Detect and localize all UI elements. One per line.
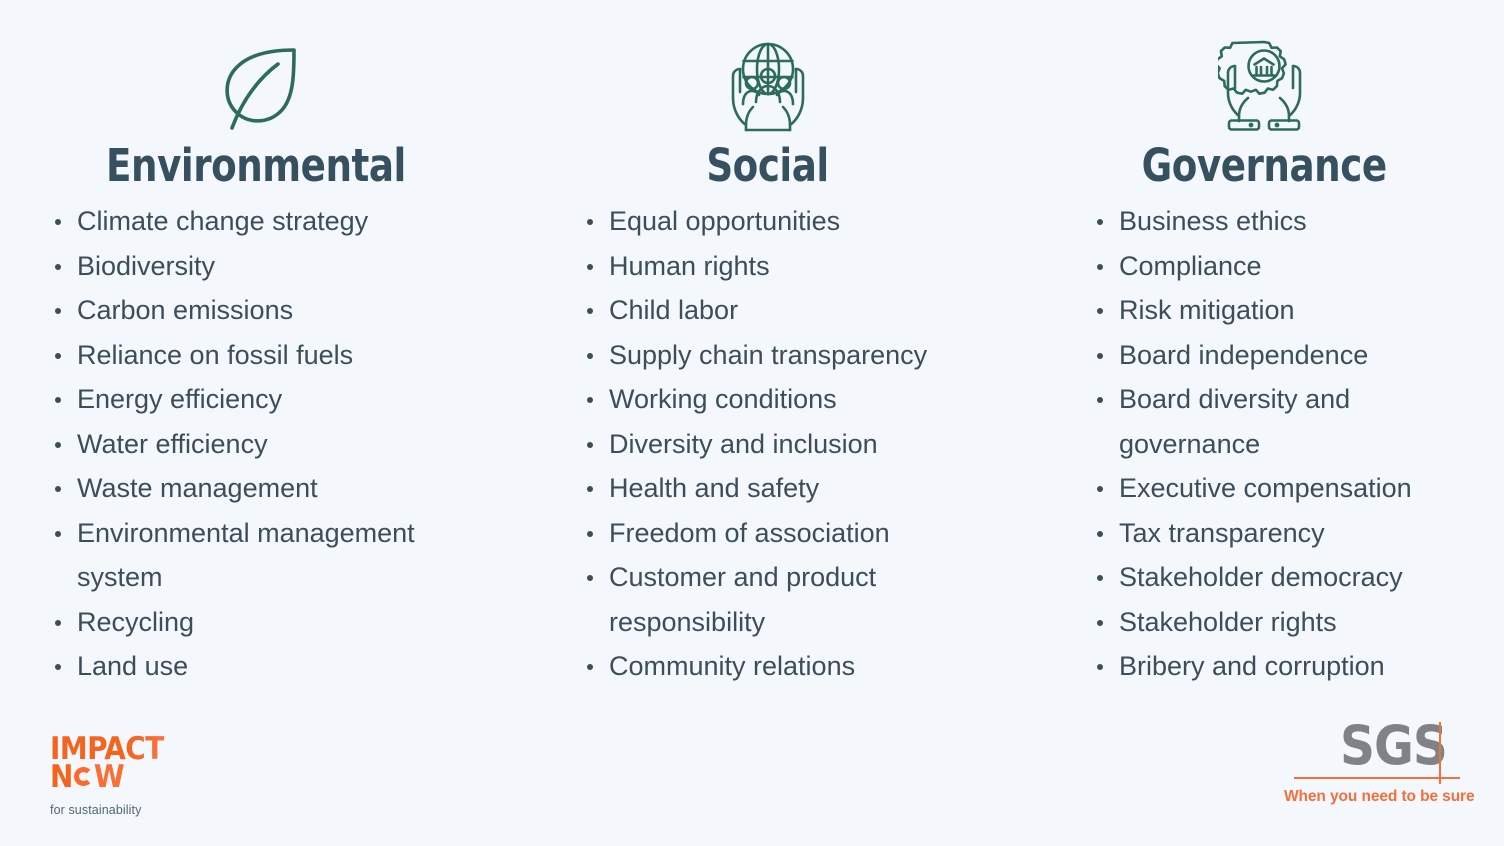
list-item: Reliance on fossil fuels [52,333,492,378]
sgs-mark: SGS [1280,722,1470,782]
list-item: Customer and product responsibility [584,555,1004,644]
column-governance: Governance Business ethics Compliance Ri… [1024,0,1504,720]
sgs-crosshair-horizontal-icon [1294,777,1460,779]
list-item: Environmental management system [52,511,492,600]
hands-holding-gear-bank-icon [1218,22,1310,134]
list-item: Diversity and inclusion [584,422,1004,467]
list-item: Executive compensation [1094,466,1488,511]
list-item: Human rights [584,244,1004,289]
list-item: Stakeholder democracy [1094,555,1488,600]
sgs-logo: SGS When you need to be sure [1280,722,1470,822]
list-item: Child labor [584,288,1004,333]
list-item: Health and safety [584,466,1004,511]
sgs-crosshair-vertical-icon [1439,722,1441,784]
list-item: Working conditions [584,377,1004,422]
list-item: Freedom of association [584,511,1004,556]
list-item: Risk mitigation [1094,288,1488,333]
list-item: Board independence [1094,333,1488,378]
column-title-social: Social [707,142,829,189]
impact-now-logo: IMPACT N W for sustainability [50,735,250,817]
list-item: Business ethics [1094,199,1488,244]
governance-list: Business ethics Compliance Risk mitigati… [1024,199,1504,689]
impact-letter-n: N [50,763,73,791]
impact-wordmark-line2: N W [50,763,250,791]
list-item: Compliance [1094,244,1488,289]
list-item: Equal opportunities [584,199,1004,244]
social-list: Equal opportunities Human rights Child l… [512,199,1024,689]
list-item: Community relations [584,644,1004,689]
list-item: Carbon emissions [52,288,492,333]
column-title-governance: Governance [1141,142,1386,189]
column-environmental: Environmental Climate change strategy Bi… [0,0,512,720]
list-item: Land use [52,644,492,689]
list-item: Energy efficiency [52,377,492,422]
esg-columns: Environmental Climate change strategy Bi… [0,0,1504,720]
impact-wordmark-line1: IMPACT [50,735,250,763]
list-item: Biodiversity [52,244,492,289]
sgs-tagline: When you need to be sure [1284,788,1475,806]
column-social: Social Equal opportunities Human rights … [512,0,1024,720]
impact-tagline: for sustainability [50,803,250,817]
list-item: Tax transparency [1094,511,1488,556]
list-item: Water efficiency [52,422,492,467]
leaf-icon [210,22,302,134]
list-item: Bribery and corruption [1094,644,1488,689]
column-title-environmental: Environmental [106,142,406,189]
list-item: Waste management [52,466,492,511]
hands-holding-people-globe-icon [722,22,814,134]
environmental-list: Climate change strategy Biodiversity Car… [0,199,512,689]
list-item: Supply chain transparency [584,333,1004,378]
impact-letter-o-ring-icon [74,767,93,786]
esg-pillars-slide: Environmental Climate change strategy Bi… [0,0,1504,846]
sgs-wordmark: SGS [1340,718,1447,774]
list-item: Stakeholder rights [1094,600,1488,645]
list-item: Recycling [52,600,492,645]
impact-letter-w: W [94,763,124,791]
list-item: Board diversity and governance [1094,377,1488,466]
list-item: Climate change strategy [52,199,492,244]
